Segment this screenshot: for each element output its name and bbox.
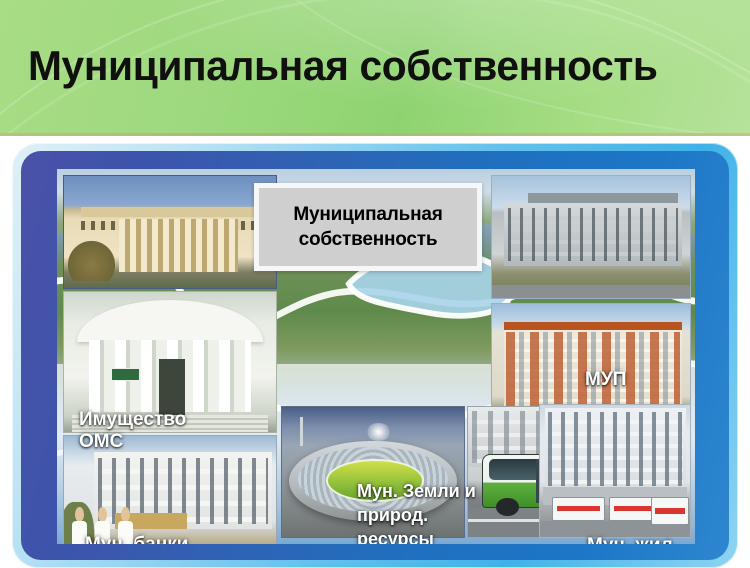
student [70, 507, 89, 544]
slide-header: Муниципальная собственность [0, 0, 750, 133]
collage-outer-frame: Муниципальная собственность Имущество ОМ… [12, 143, 738, 568]
photo-industrial-enterprise [491, 175, 691, 299]
building-roof [81, 207, 259, 217]
center-title-card: Муниципальная собственность [254, 183, 482, 271]
ambulance [651, 497, 689, 525]
page-title: Муниципальная собственность [28, 36, 707, 96]
center-title-card-label: Муниципальная собственность [259, 202, 477, 252]
hospital-window-grid [548, 412, 683, 486]
collage-photo-stage: Муниципальная собственность Имущество ОМ… [57, 169, 695, 544]
stadium-pitch [326, 459, 425, 502]
photo-hospital [539, 404, 691, 538]
photo-administration-building [63, 175, 277, 289]
photo-stadium [281, 406, 465, 538]
photo-bank-building [63, 291, 277, 433]
building-entrance [159, 359, 184, 415]
road [492, 285, 690, 298]
ambulance [609, 497, 656, 521]
students-group [68, 507, 140, 544]
student [93, 507, 112, 544]
collage-inner-frame: Муниципальная собственность Имущество ОМ… [21, 151, 729, 560]
collage-image: Муниципальная собственность Имущество ОМ… [12, 143, 738, 568]
photo-school-building [63, 435, 277, 544]
tree [68, 241, 115, 281]
floodlight-mast [300, 417, 303, 446]
header-divider [0, 133, 750, 136]
ambulance [552, 497, 605, 521]
factory-window-grid [508, 208, 678, 262]
building-steps [72, 415, 267, 432]
building-signboard [111, 368, 141, 381]
building-columns [119, 219, 238, 273]
apartment-balconies [506, 332, 680, 406]
building-arch [77, 300, 264, 342]
floodlight-glow [366, 423, 391, 441]
student [116, 507, 135, 544]
